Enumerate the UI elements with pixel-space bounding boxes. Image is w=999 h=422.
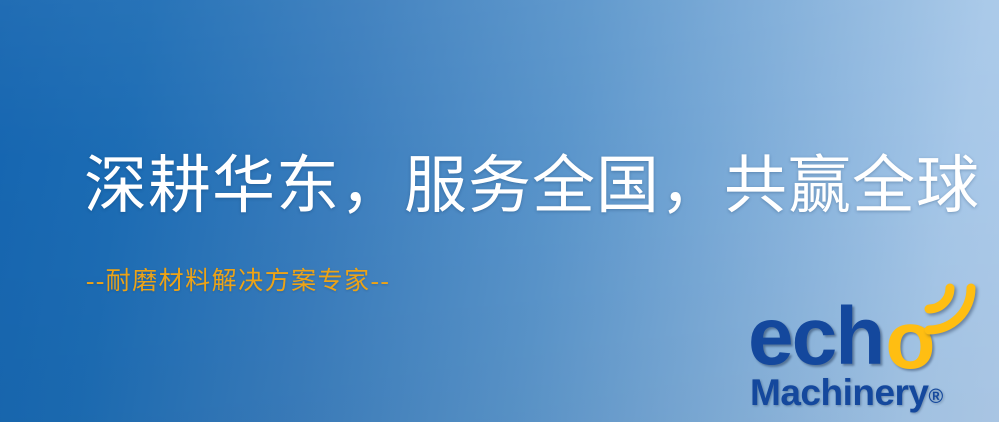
banner-headline: 深耕华东，服务全国，共赢全球: [84, 152, 980, 220]
registered-trademark-icon: ®: [929, 386, 944, 408]
company-logo[interactable]: ech o Machinery®: [748, 300, 994, 418]
hero-banner: 深耕华东，服务全国，共赢全球 --耐磨材料解决方案专家-- ech o Mach…: [0, 0, 999, 422]
logo-text-ech: ech: [748, 303, 883, 372]
logo-machinery-word: Machinery: [750, 372, 929, 413]
wifi-arcs-icon: [919, 278, 981, 340]
logo-wordmark: ech o: [748, 300, 957, 372]
logo-text-machinery: Machinery®: [750, 374, 943, 411]
logo-accent-o-group: o: [883, 300, 957, 372]
banner-subtitle: --耐磨材料解决方案专家--: [86, 268, 390, 296]
